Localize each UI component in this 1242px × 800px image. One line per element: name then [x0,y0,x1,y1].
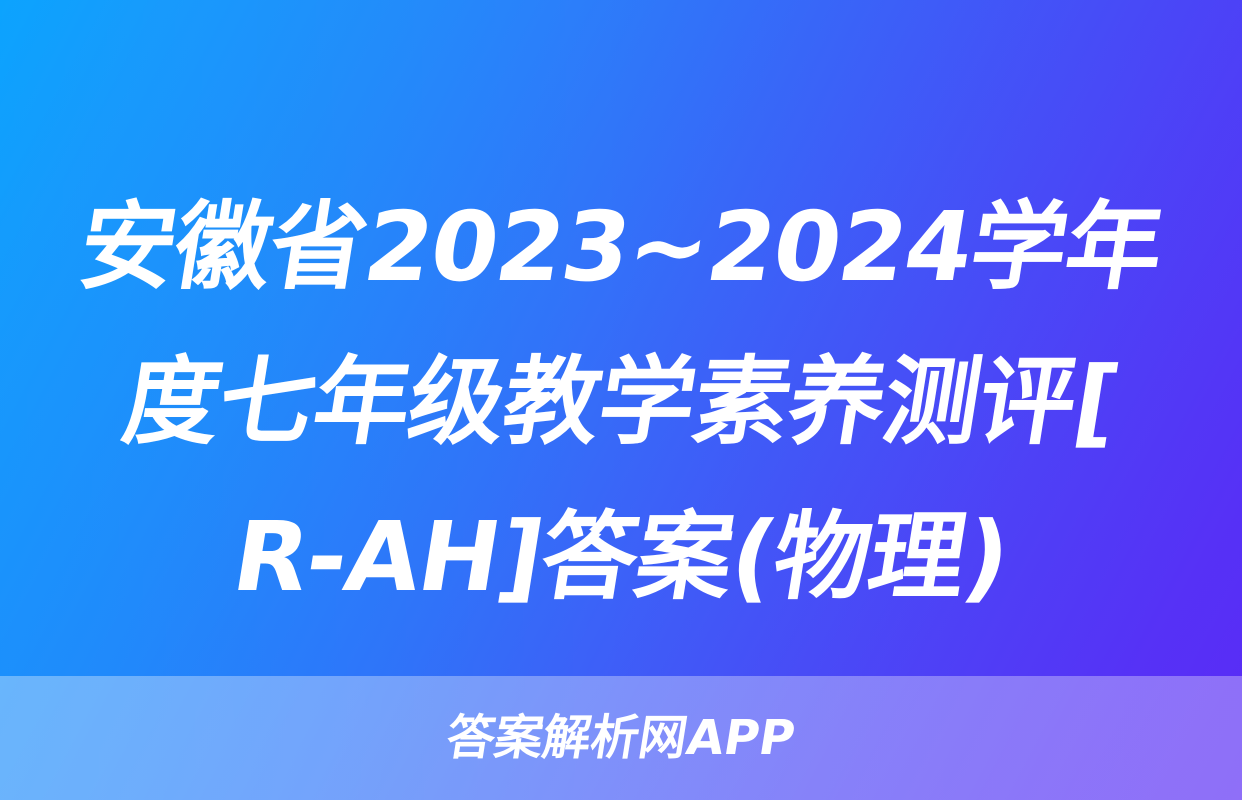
title-line-2: 度七年级教学素养测评[ [26,325,1217,480]
brand-watermark: 答案解析网APP [443,714,798,762]
title-line-3: R-AH]答案(物理) [26,480,1217,635]
title-line-1: 安徽省2023~2024学年 [26,170,1217,325]
footer-band: 答案解析网APP [0,676,1242,800]
page-title: 安徽省2023~2024学年 度七年级教学素养测评[ R-AH]答案(物理) [0,170,1242,635]
footer-band-inner: 答案解析网APP [0,676,1242,800]
poster-canvas: 安徽省2023~2024学年 度七年级教学素养测评[ R-AH]答案(物理) 答… [0,0,1242,800]
